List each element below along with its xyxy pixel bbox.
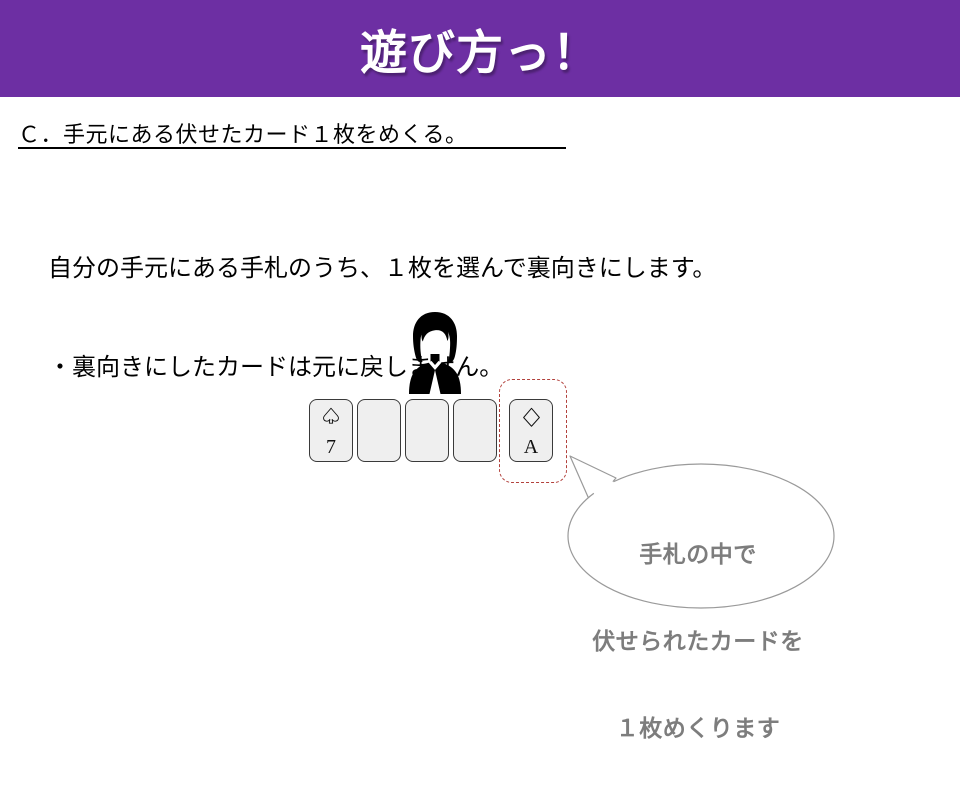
- card-5-rank: A: [510, 436, 552, 459]
- card-1[interactable]: 7: [309, 399, 353, 462]
- spade-icon: [310, 404, 352, 430]
- body-line-1: 自分の手元にある手札のうち、１枚を選んで裏向きにします。: [48, 252, 848, 285]
- speech-bubble-line-2: 伏せられたカードを: [586, 627, 810, 656]
- card-4-suit-empty: [454, 404, 496, 430]
- card-1-rank: 7: [310, 436, 352, 459]
- woman-silhouette-icon: [402, 310, 468, 398]
- slide-canvas: 遊び方っ！ Ｃ．手元にある伏せたカード１枚をめくる。 自分の手元にある手札のうち…: [0, 0, 960, 720]
- card-2-suit-empty: [358, 404, 400, 430]
- card-3-suit-empty: [406, 404, 448, 430]
- speech-bubble-line-1: 手札の中で: [586, 540, 810, 569]
- card-2[interactable]: [357, 399, 401, 462]
- speech-bubble-line-3: １枚めくります: [586, 714, 810, 743]
- card-5[interactable]: A: [509, 399, 553, 462]
- section-heading-underline: [18, 147, 566, 149]
- speech-bubble: 手札の中で 伏せられたカードを １枚めくります: [558, 448, 838, 610]
- speech-bubble-text: 手札の中で 伏せられたカードを １枚めくります: [586, 482, 810, 801]
- card-3[interactable]: [405, 399, 449, 462]
- card-row: 7 A: [309, 399, 559, 465]
- section-heading: Ｃ．手元にある伏せたカード１枚をめくる。: [18, 117, 578, 149]
- card-4[interactable]: [453, 399, 497, 462]
- page-title: 遊び方っ！: [0, 0, 960, 97]
- diamond-icon: [510, 404, 552, 430]
